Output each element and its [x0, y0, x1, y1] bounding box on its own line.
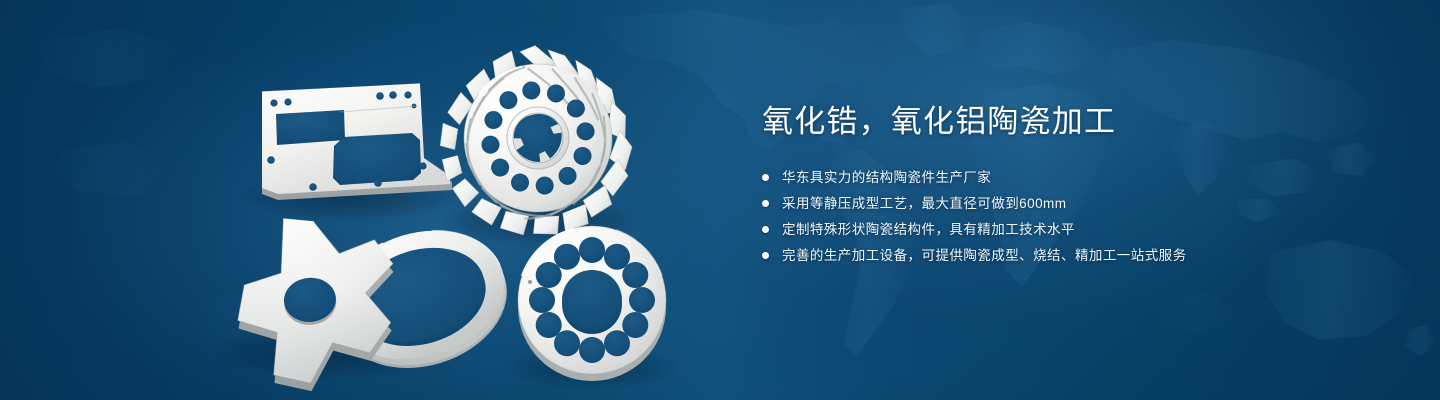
banner-copy: 氧化锆，氧化铝陶瓷加工 华东具实力的结构陶瓷件生产厂家 采用等静压成型工艺，最大… [762, 104, 1362, 271]
list-item: 采用等静压成型工艺，最大直径可做到600mm [762, 193, 1362, 215]
bullet-label: 定制特殊形状陶瓷结构件，具有精加工技术水平 [782, 219, 1075, 241]
product-photo-montage [0, 0, 720, 400]
banner-headline: 氧化锆，氧化铝陶瓷加工 [762, 104, 1362, 141]
bullet-dot-icon [762, 252, 769, 259]
bullet-label: 采用等静压成型工艺，最大直径可做到600mm [782, 193, 1066, 215]
bullet-label: 完善的生产加工设备，可提供陶瓷成型、烧结、精加工一站式服务 [782, 245, 1187, 267]
bullet-dot-icon [762, 174, 769, 181]
feature-bullet-list: 华东具实力的结构陶瓷件生产厂家 采用等静压成型工艺，最大直径可做到600mm 定… [762, 167, 1362, 267]
ceramic-mounting-plate [262, 84, 452, 200]
bullet-dot-icon [762, 200, 769, 207]
ceramic-perforated-disc [518, 226, 666, 381]
hero-banner: 氧化锆，氧化铝陶瓷加工 华东具实力的结构陶瓷件生产厂家 采用等静压成型工艺，最大… [0, 0, 1440, 400]
bullet-label: 华东具实力的结构陶瓷件生产厂家 [782, 167, 991, 189]
list-item: 完善的生产加工设备，可提供陶瓷成型、烧结、精加工一站式服务 [762, 245, 1362, 267]
bullet-dot-icon [762, 226, 769, 233]
list-item: 华东具实力的结构陶瓷件生产厂家 [762, 167, 1362, 189]
list-item: 定制特殊形状陶瓷结构件，具有精加工技术水平 [762, 219, 1362, 241]
